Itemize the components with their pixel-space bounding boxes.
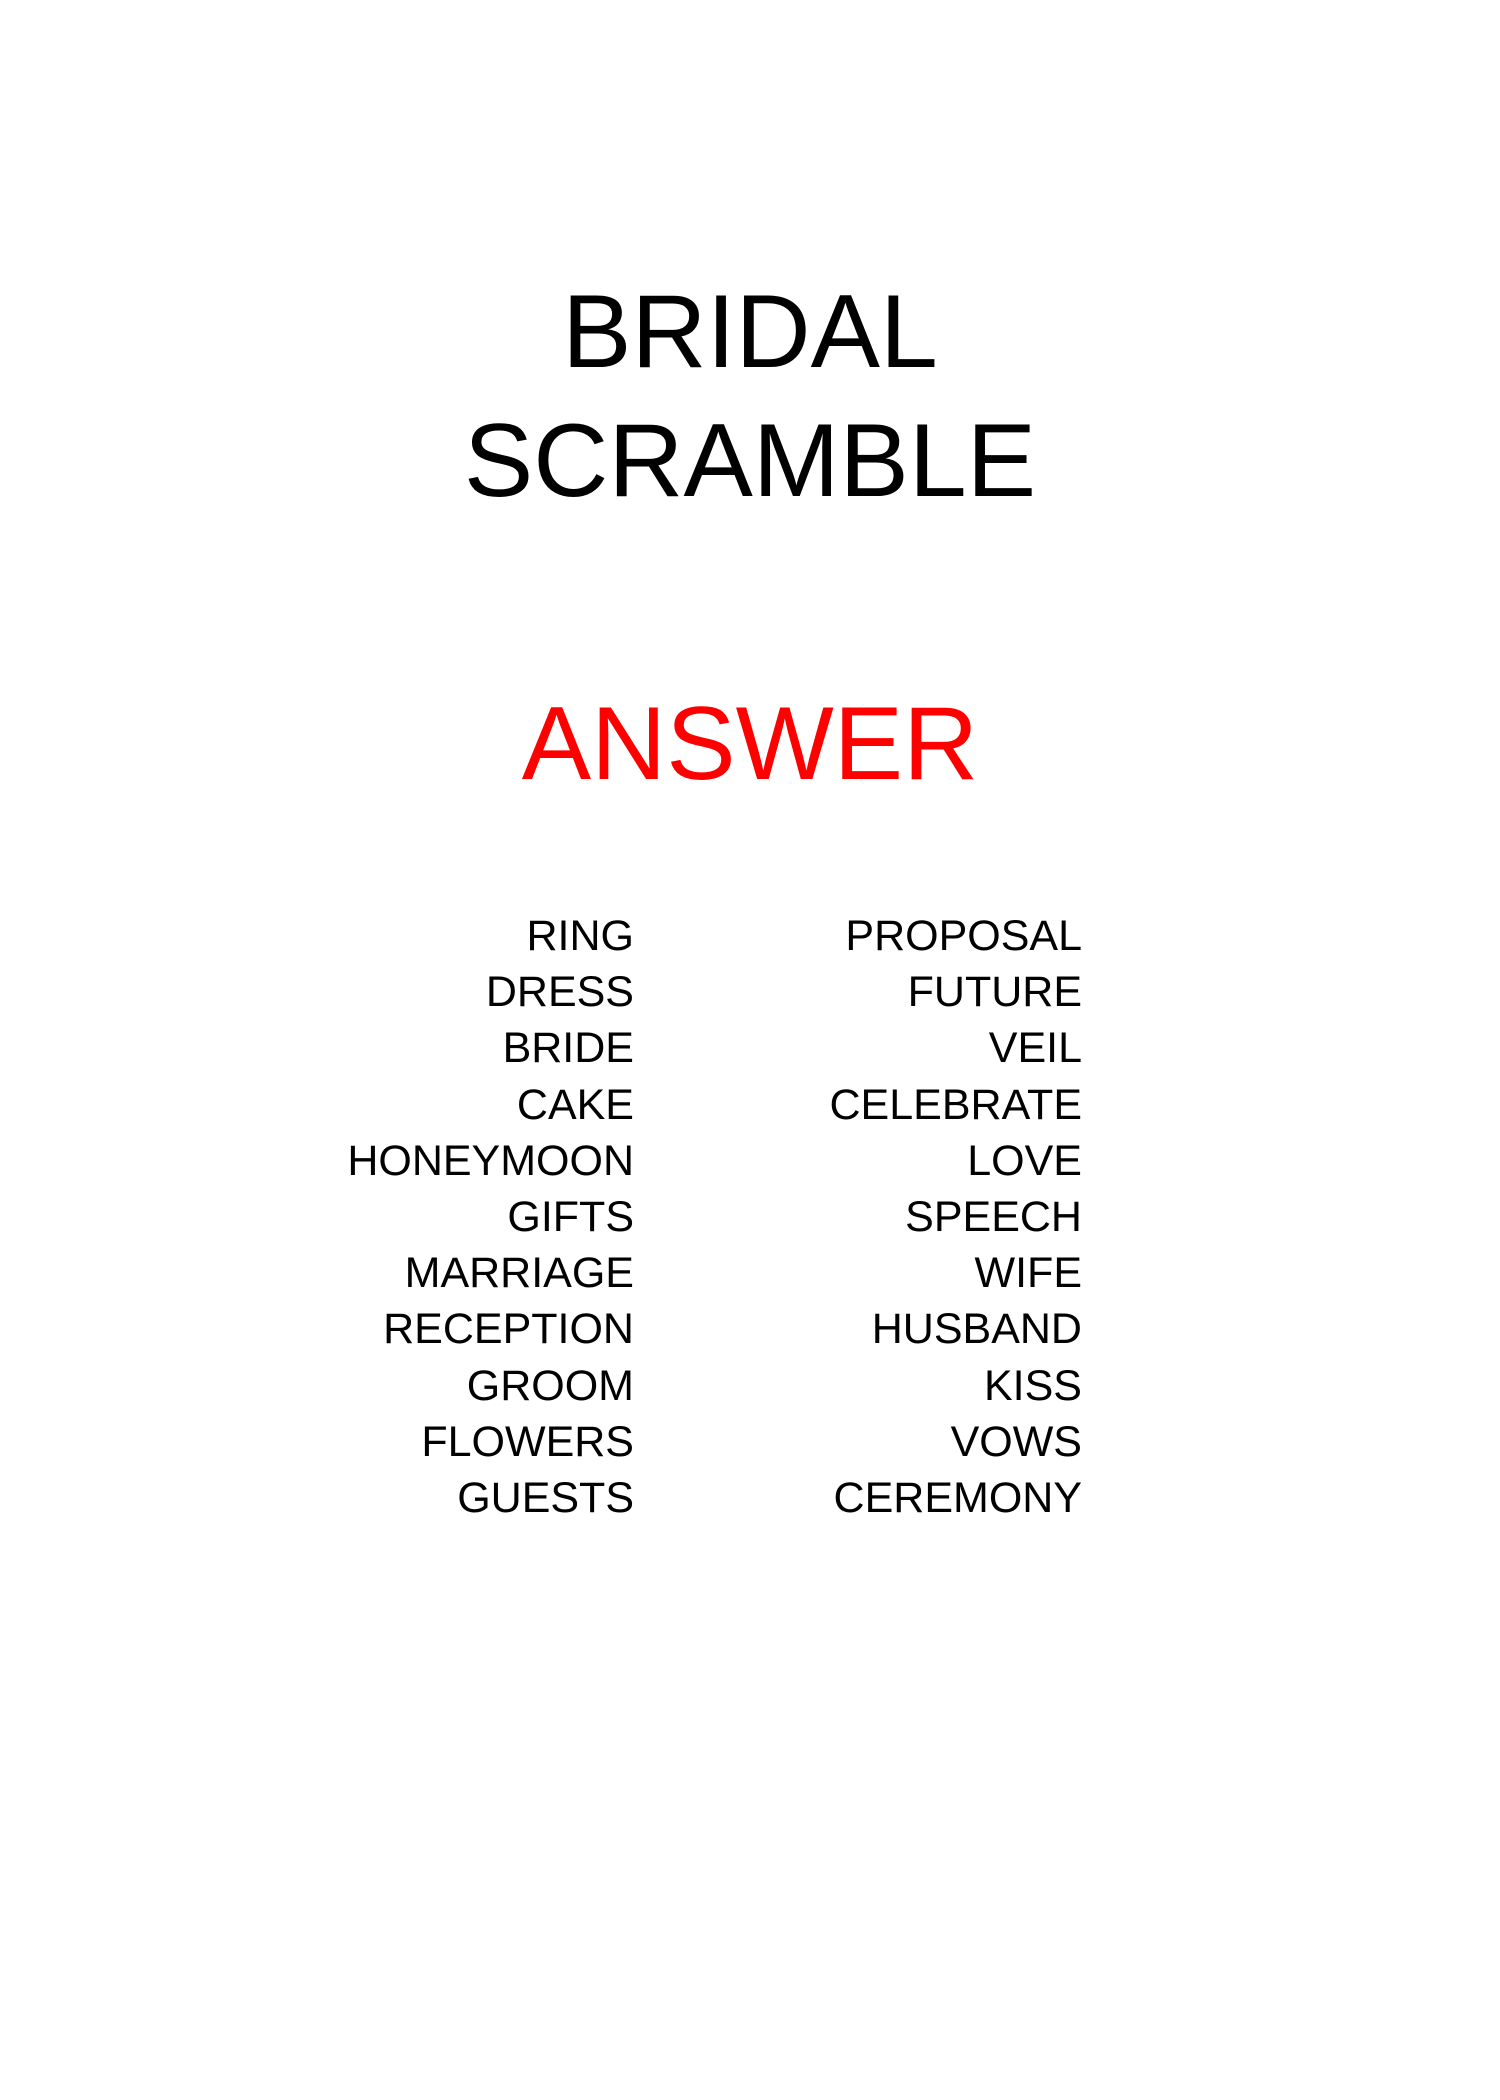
answer-word: GUESTS: [457, 1470, 634, 1526]
answer-word: SPEECH: [905, 1189, 1082, 1245]
answer-word: GROOM: [467, 1358, 634, 1414]
answer-word: RING: [527, 908, 635, 964]
answer-word: DRESS: [486, 964, 634, 1020]
answer-word: GIFTS: [507, 1189, 634, 1245]
answer-word-list: RING DRESS BRIDE CAKE HONEYMOON GIFTS MA…: [0, 908, 1500, 1526]
worksheet-page: BRIDAL SCRAMBLE ANSWER RING DRESS BRIDE …: [0, 0, 1500, 2100]
answer-word: MARRIAGE: [405, 1245, 634, 1301]
answer-word: RECEPTION: [383, 1301, 634, 1357]
answer-word: FUTURE: [908, 964, 1082, 1020]
answer-word: CEREMONY: [834, 1470, 1082, 1526]
answer-word: VEIL: [989, 1020, 1082, 1076]
answer-column-left: RING DRESS BRIDE CAKE HONEYMOON GIFTS MA…: [0, 908, 634, 1526]
page-title-line-1: BRIDAL: [0, 268, 1500, 397]
answer-word: PROPOSAL: [845, 908, 1082, 964]
answer-word: KISS: [984, 1358, 1082, 1414]
answer-heading: ANSWER: [0, 689, 1500, 799]
answer-word: HUSBAND: [872, 1301, 1082, 1357]
page-title: BRIDAL SCRAMBLE: [0, 268, 1500, 526]
answer-word: HONEYMOON: [347, 1133, 634, 1189]
answer-word: CELEBRATE: [830, 1077, 1083, 1133]
answer-word: CAKE: [517, 1077, 634, 1133]
answer-word: BRIDE: [503, 1020, 634, 1076]
answer-word: FLOWERS: [421, 1414, 634, 1470]
answer-word: VOWS: [951, 1414, 1082, 1470]
answer-word: LOVE: [967, 1133, 1082, 1189]
page-title-line-2: SCRAMBLE: [0, 397, 1500, 526]
answer-word: WIFE: [975, 1245, 1082, 1301]
answer-column-right: PROPOSAL FUTURE VEIL CELEBRATE LOVE SPEE…: [634, 908, 1082, 1526]
